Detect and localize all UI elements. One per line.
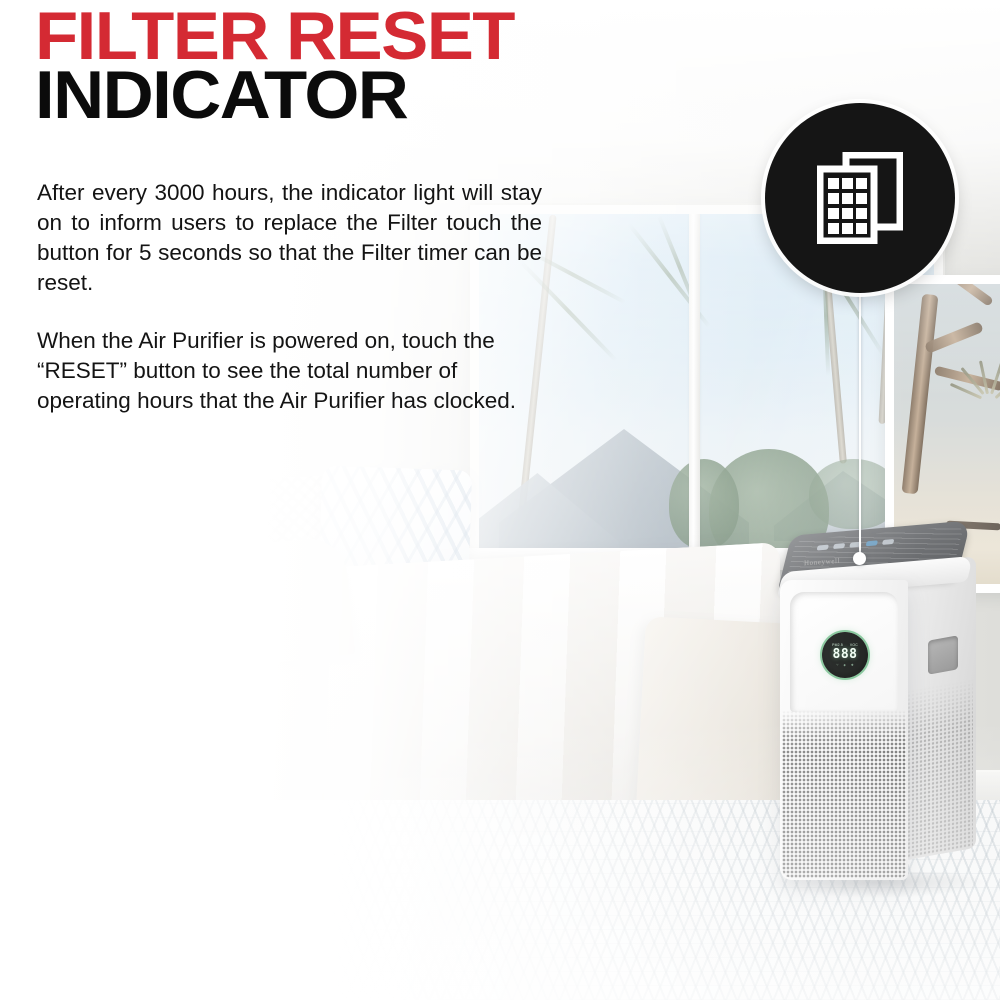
paragraph-2: When the Air Purifier is powered on, tou… — [37, 326, 542, 416]
touch-key-reset[interactable] — [882, 539, 894, 545]
purifier-front-grille — [782, 710, 906, 878]
display-indicator-2: ◈ — [843, 663, 845, 667]
display-indicator-1: ⑂ — [836, 663, 838, 667]
filter-badge — [765, 103, 955, 293]
duvet-fold — [144, 535, 355, 675]
display-digits: 888 — [833, 648, 858, 661]
marketing-slide: Honeywell PM2.5 VOC 888 ⑂ ◈ ❉ — [0, 0, 1000, 1000]
callout-target-dot — [853, 552, 866, 565]
touch-key-timer[interactable] — [866, 540, 878, 546]
touch-key-power[interactable] — [817, 545, 829, 551]
purifier-side-grille — [907, 678, 973, 858]
page-title: FILTER RESET INDICATOR — [35, 4, 735, 127]
body-copy: After every 3000 hours, the indicator li… — [37, 178, 542, 416]
filter-panel-icon — [817, 152, 903, 244]
purifier-display: PM2.5 VOC 888 ⑂ ◈ ❉ — [822, 632, 868, 678]
art-tree-branch — [948, 284, 994, 307]
paragraph-1: After every 3000 hours, the indicator li… — [37, 178, 542, 298]
display-indicator-3: ❉ — [851, 663, 854, 667]
air-purifier: Honeywell PM2.5 VOC 888 ⑂ ◈ ❉ — [776, 520, 988, 890]
purifier-handle — [928, 635, 958, 674]
art-tree-branch — [934, 366, 1000, 392]
art-tree-trunk — [902, 294, 939, 495]
headline-line-2: INDICATOR — [35, 63, 763, 128]
touch-key-mode[interactable] — [833, 543, 845, 549]
window-mullion — [689, 214, 700, 559]
display-indicators: ⑂ ◈ ❉ — [836, 663, 853, 667]
foliage — [669, 459, 739, 549]
